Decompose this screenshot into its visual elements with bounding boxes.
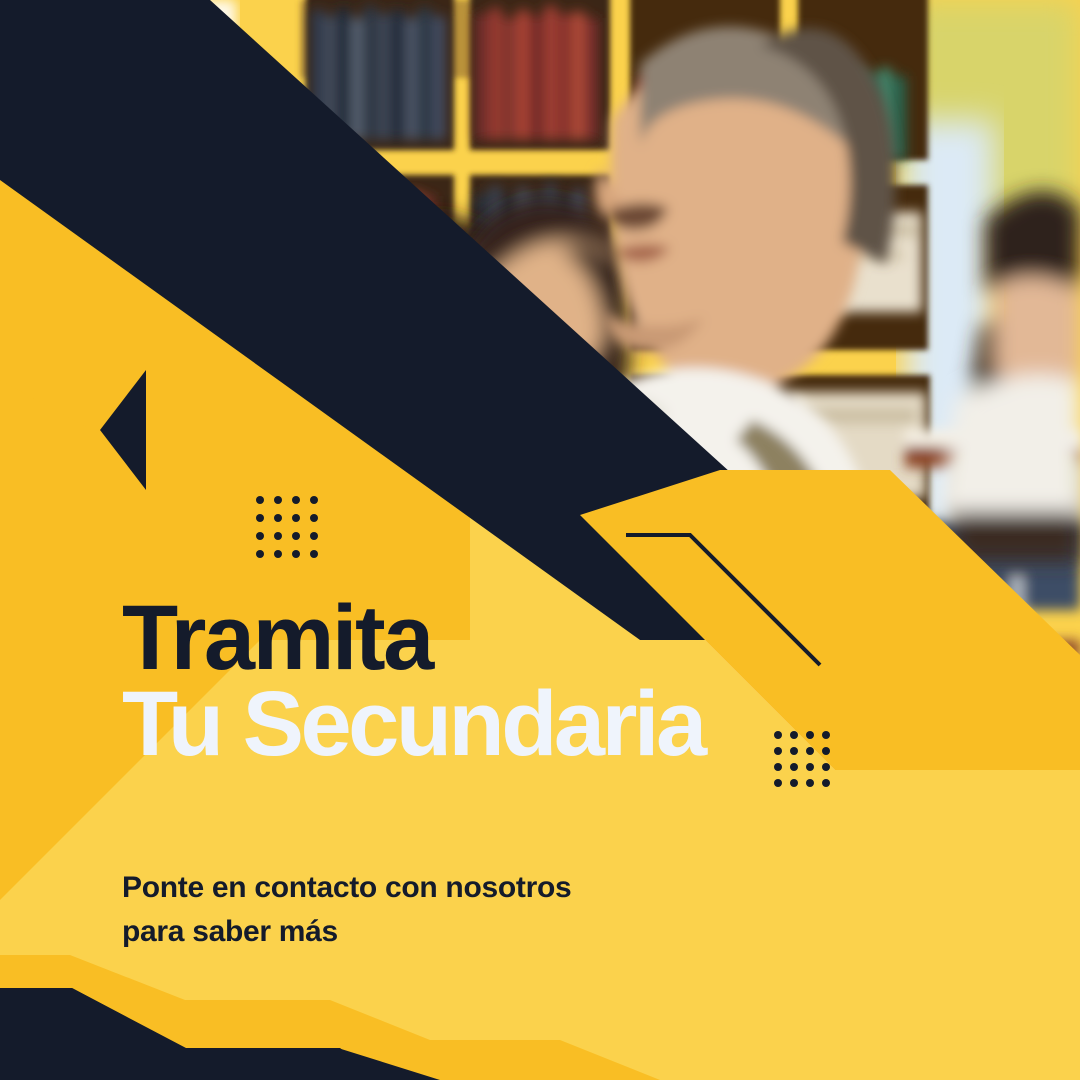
subcopy-line-1: Ponte en contacto con nosotros bbox=[122, 866, 571, 910]
dot-grid-icon-upper bbox=[256, 496, 318, 558]
headline-line-1: Tramita bbox=[122, 596, 882, 682]
subcopy-block: Ponte en contacto con nosotros para sabe… bbox=[122, 866, 571, 953]
headline-line-2: Tu Secundaria bbox=[122, 682, 882, 768]
headline-block: Tramita Tu Secundaria bbox=[122, 596, 882, 767]
poster-canvas: Tramita Tu Secundaria Ponte en contacto … bbox=[0, 0, 1080, 1080]
subcopy-line-2: para saber más bbox=[122, 910, 571, 954]
